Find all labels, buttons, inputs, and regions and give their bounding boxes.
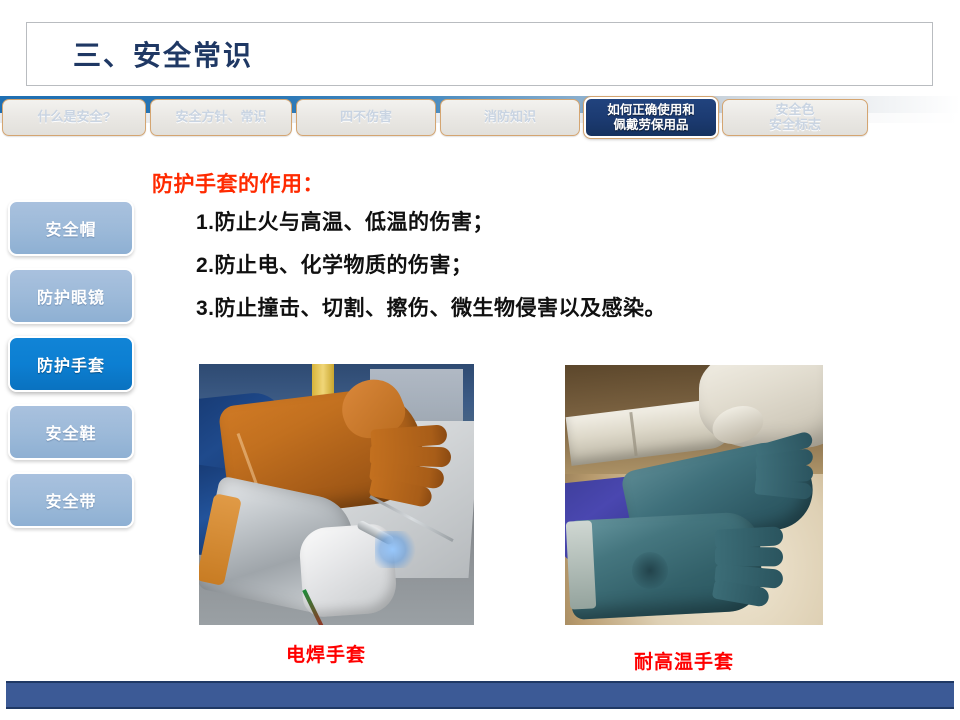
welding-glove-image [199, 364, 474, 625]
tab-safety-colors-signs[interactable]: 安全色 安全标志 [722, 99, 868, 136]
photo-caption-heat-glove: 耐高温手套 [634, 647, 734, 674]
photo-glove-cuff [565, 520, 595, 610]
sidebar-item-gloves[interactable]: 防护手套 [8, 336, 134, 392]
bullet-list: 1.防止火与高温、低温的伤害； 2.防止电、化学物质的伤害； 3.防止撞击、切割… [196, 212, 896, 341]
photo-glove-fingers-front [715, 526, 792, 604]
sidebar-item-safety-belt[interactable]: 安全带 [8, 472, 134, 528]
tab-what-is-safety[interactable]: 什么是安全? [2, 99, 146, 136]
page-title: 三、安全常识 [73, 34, 253, 74]
bullet-item: 2.防止电、化学物质的伤害； [196, 255, 896, 276]
tab-label-line: 什么是安全? [38, 110, 111, 125]
footer-bar [6, 681, 954, 709]
slide-canvas: 三、安全常识 什么是安全? 安全方针、常识 四不伤害 [0, 0, 960, 720]
sidebar-item-label: 安全帽 [45, 216, 96, 240]
sidebar-item-goggles[interactable]: 防护眼镜 [8, 268, 134, 324]
sidebar-item-helmet[interactable]: 安全帽 [8, 200, 134, 256]
tab-ppe-usage[interactable]: 如何正确使用和 佩戴劳保用品 [584, 97, 718, 138]
photo-glove-logo [632, 552, 668, 588]
section-tabbar: 什么是安全? 安全方针、常识 四不伤害 消防知识 如何正 [0, 96, 960, 140]
tab-label-line: 安全色 [769, 103, 821, 118]
sidebar-item-label: 防护手套 [37, 352, 105, 376]
bullet-item: 1.防止火与高温、低温的伤害； [196, 212, 896, 233]
sidebar-item-label: 安全带 [45, 488, 96, 512]
heat-resistant-glove-image [565, 365, 823, 625]
sidebar-item-label: 安全鞋 [45, 420, 96, 444]
photo-glove-fingers-back [756, 438, 823, 500]
ppe-sidebar: 安全帽 防护眼镜 防护手套 安全鞋 安全带 [8, 200, 136, 540]
tab-list: 什么是安全? 安全方针、常识 四不伤害 消防知识 如何正 [0, 99, 872, 138]
slide-title-box: 三、安全常识 [26, 22, 933, 86]
tab-label-line: 如何正确使用和 [607, 103, 695, 117]
tab-safety-policy[interactable]: 安全方针、常识 [150, 99, 292, 136]
tab-four-no-harms[interactable]: 四不伤害 [296, 99, 436, 136]
tab-fire-knowledge[interactable]: 消防知识 [440, 99, 580, 136]
photo-glove-fingers [370, 427, 458, 500]
sidebar-item-label: 防护眼镜 [37, 284, 105, 308]
photo-weld-spark [375, 531, 419, 568]
content-heading: 防护手套的作用： [152, 168, 324, 198]
tab-label-line: 消防知识 [484, 110, 536, 125]
tab-label-line: 佩戴劳保用品 [607, 118, 695, 132]
tab-label-line: 安全标志 [769, 118, 821, 133]
bullet-item: 3.防止撞击、切割、擦伤、微生物侵害以及感染。 [196, 298, 896, 319]
tab-label-line: 四不伤害 [340, 110, 392, 125]
tab-label-line: 安全方针、常识 [175, 110, 266, 125]
photo-caption-welding-glove: 电焊手套 [286, 640, 366, 667]
sidebar-item-safety-shoes[interactable]: 安全鞋 [8, 404, 134, 460]
